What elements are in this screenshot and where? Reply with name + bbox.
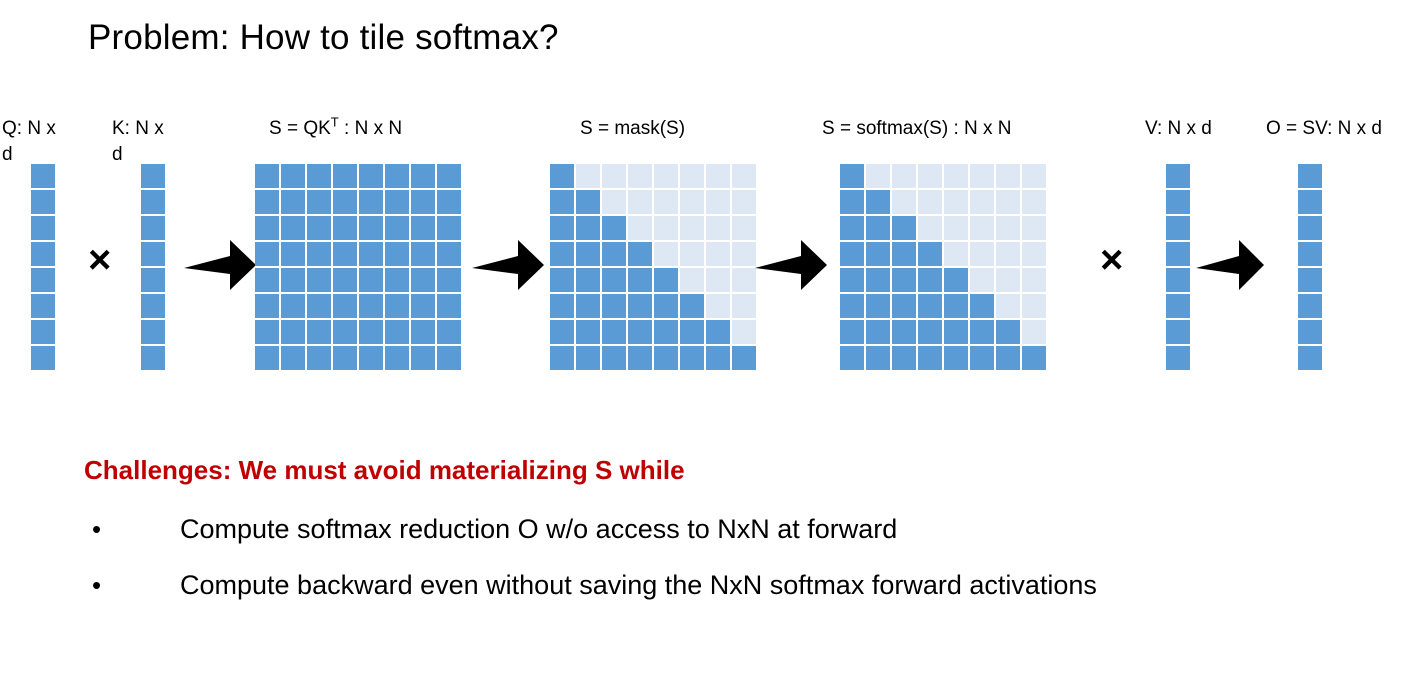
- stage-q-label: Q: N x: [2, 118, 56, 140]
- matrix-cell: [680, 242, 704, 266]
- stage-s-mask-label: S = mask(S): [580, 118, 685, 140]
- matrix-cell: [255, 242, 279, 266]
- matrix-cell: [437, 164, 461, 188]
- matrix-cell: [141, 164, 165, 188]
- matrix-cell: [1022, 346, 1046, 370]
- matrix-cell: [411, 294, 435, 318]
- matrix-cell: [411, 320, 435, 344]
- matrix-cell: [141, 190, 165, 214]
- matrix-cell: [411, 268, 435, 292]
- matrix-cell: [576, 294, 600, 318]
- matrix-cell: [732, 164, 756, 188]
- matrix-cell: [437, 346, 461, 370]
- matrix-cell: [680, 190, 704, 214]
- arrow-right-icon: [472, 236, 544, 299]
- matrix-cell: [628, 190, 652, 214]
- matrix-cell: [996, 242, 1020, 266]
- matrix-cell: [1298, 294, 1322, 318]
- matrix-cell: [944, 164, 968, 188]
- matrix-cell: [359, 294, 383, 318]
- matrix-cell: [996, 164, 1020, 188]
- matrix-cell: [1022, 242, 1046, 266]
- matrix-cell: [385, 164, 409, 188]
- list-item: • Compute softmax reduction O w/o access…: [84, 507, 1364, 551]
- matrix-cell: [840, 242, 864, 266]
- matrix-cell: [1298, 242, 1322, 266]
- matrix-cell: [576, 190, 600, 214]
- matrix-cell: [31, 320, 55, 344]
- matrix-cell: [437, 320, 461, 344]
- matrix-cell: [918, 346, 942, 370]
- matrix-s-mask: [550, 164, 756, 370]
- matrix-cell: [550, 216, 574, 240]
- matrix-cell: [602, 216, 626, 240]
- matrix-cell: [333, 268, 357, 292]
- matrix-cell: [970, 242, 994, 266]
- matrix-cell: [411, 164, 435, 188]
- matrix-cell: [437, 294, 461, 318]
- matrix-cell: [359, 216, 383, 240]
- matrix-cell: [385, 242, 409, 266]
- matrix-cell: [996, 346, 1020, 370]
- matrix-cell: [1298, 346, 1322, 370]
- matrix-cell: [31, 268, 55, 292]
- matrix-cell: [576, 320, 600, 344]
- matrix-cell: [706, 320, 730, 344]
- matrix-cell: [602, 320, 626, 344]
- matrix-cell: [680, 164, 704, 188]
- bullet-text: Compute backward even without saving the…: [180, 563, 1097, 607]
- matrix-cell: [359, 242, 383, 266]
- matrix-cell: [680, 346, 704, 370]
- stage-s-qkt-label: S = QKT : N x N: [269, 118, 402, 140]
- matrix-cell: [359, 268, 383, 292]
- matrix-cell: [333, 164, 357, 188]
- matrix-cell: [31, 190, 55, 214]
- matrix-cell: [602, 164, 626, 188]
- matrix-cell: [411, 216, 435, 240]
- matrix-cell: [892, 190, 916, 214]
- matrix-cell: [385, 190, 409, 214]
- matrix-cell: [307, 242, 331, 266]
- matrix-cell: [866, 216, 890, 240]
- matrix-cell: [628, 320, 652, 344]
- matrix-cell: [654, 294, 678, 318]
- matrix-cell: [732, 346, 756, 370]
- matrix-cell: [680, 294, 704, 318]
- matrix-cell: [255, 346, 279, 370]
- matrix-cell: [333, 216, 357, 240]
- matrix-cell: [944, 346, 968, 370]
- matrix-cell: [628, 164, 652, 188]
- matrix-cell: [732, 268, 756, 292]
- matrix-cell: [944, 242, 968, 266]
- matrix-cell: [1298, 268, 1322, 292]
- matrix-cell: [411, 242, 435, 266]
- matrix-cell: [1022, 190, 1046, 214]
- matrix-cell: [359, 164, 383, 188]
- matrix-cell: [1298, 190, 1322, 214]
- matrix-cell: [892, 268, 916, 292]
- matrix-cell: [550, 294, 574, 318]
- matrix-cell: [892, 164, 916, 188]
- matrix-cell: [840, 216, 864, 240]
- matrix-cell: [628, 268, 652, 292]
- matrix-cell: [1298, 164, 1322, 188]
- matrix-cell: [892, 320, 916, 344]
- bullet-dot-icon: •: [84, 563, 180, 607]
- matrix-cell: [706, 216, 730, 240]
- matrix-cell: [628, 294, 652, 318]
- matrix-cell: [141, 268, 165, 292]
- matrix-cell: [866, 294, 890, 318]
- matrix-cell: [281, 268, 305, 292]
- matrix-cell: [892, 216, 916, 240]
- matrix-cell: [550, 320, 574, 344]
- bullet-text: Compute softmax reduction O w/o access t…: [180, 507, 897, 551]
- matrix-cell: [333, 294, 357, 318]
- matrix-cell: [732, 294, 756, 318]
- matrix-cell: [918, 216, 942, 240]
- matrix-cell: [31, 216, 55, 240]
- matrix-cell: [996, 320, 1020, 344]
- matrix-cell: [602, 190, 626, 214]
- matrix-cell: [1166, 190, 1190, 214]
- matrix-cell: [550, 242, 574, 266]
- stage-s-qkt-label-main: S = QK: [269, 118, 331, 139]
- matrix-cell: [602, 346, 626, 370]
- matrix-cell: [281, 294, 305, 318]
- matrix-cell: [680, 268, 704, 292]
- matrix-cell: [944, 294, 968, 318]
- matrix-cell: [576, 268, 600, 292]
- stage-v-label: V: N x d: [1145, 118, 1212, 140]
- matrix-cell: [654, 216, 678, 240]
- matrix-cell: [307, 164, 331, 188]
- matrix-cell: [385, 268, 409, 292]
- matrix-cell: [141, 242, 165, 266]
- matrix-k: [141, 164, 165, 370]
- matrix-cell: [840, 294, 864, 318]
- matrix-cell: [840, 164, 864, 188]
- stage-k-label: K: N x: [112, 118, 164, 140]
- matrix-cell: [1298, 320, 1322, 344]
- matrix-cell: [706, 268, 730, 292]
- matrix-cell: [970, 294, 994, 318]
- matrix-cell: [970, 268, 994, 292]
- matrix-cell: [437, 190, 461, 214]
- matrix-cell: [732, 190, 756, 214]
- matrix-cell: [576, 242, 600, 266]
- matrix-cell: [1298, 216, 1322, 240]
- matrix-cell: [654, 320, 678, 344]
- matrix-cell: [970, 320, 994, 344]
- matrix-s-softmax: [840, 164, 1046, 370]
- matrix-v: [1166, 164, 1190, 370]
- matrix-cell: [970, 216, 994, 240]
- matrix-cell: [866, 346, 890, 370]
- stage-o-label: O = SV: N x d: [1266, 118, 1382, 140]
- matrix-cell: [550, 268, 574, 292]
- matrix-cell: [385, 346, 409, 370]
- matrix-cell: [628, 346, 652, 370]
- matrix-cell: [996, 190, 1020, 214]
- matrix-cell: [706, 242, 730, 266]
- stage-q-sublabel: d: [2, 144, 13, 166]
- matrix-cell: [918, 268, 942, 292]
- stage-s-qkt-label-suffix: : N x N: [339, 118, 402, 139]
- matrix-cell: [576, 216, 600, 240]
- matrix-cell: [1166, 346, 1190, 370]
- matrix-cell: [281, 242, 305, 266]
- matrix-cell: [31, 294, 55, 318]
- matrix-cell: [1022, 294, 1046, 318]
- attention-pipeline-diagram: Q: N x d × K: N x d: [0, 118, 1408, 388]
- stage-k-sublabel: d: [112, 144, 123, 166]
- transpose-superscript: T: [331, 115, 339, 130]
- matrix-cell: [866, 320, 890, 344]
- matrix-cell: [732, 242, 756, 266]
- matrix-cell: [602, 242, 626, 266]
- matrix-cell: [385, 216, 409, 240]
- matrix-cell: [550, 190, 574, 214]
- matrix-cell: [281, 164, 305, 188]
- matrix-cell: [141, 346, 165, 370]
- matrix-cell: [411, 190, 435, 214]
- matrix-cell: [1022, 216, 1046, 240]
- matrix-cell: [918, 242, 942, 266]
- matrix-cell: [866, 164, 890, 188]
- matrix-cell: [281, 320, 305, 344]
- matrix-cell: [307, 216, 331, 240]
- matrix-cell: [437, 268, 461, 292]
- matrix-cell: [141, 320, 165, 344]
- matrix-cell: [654, 268, 678, 292]
- matrix-cell: [281, 216, 305, 240]
- matrix-cell: [918, 190, 942, 214]
- matrix-cell: [628, 216, 652, 240]
- matrix-cell: [680, 216, 704, 240]
- matrix-cell: [1166, 164, 1190, 188]
- matrix-cell: [918, 164, 942, 188]
- matrix-cell: [654, 164, 678, 188]
- matrix-cell: [255, 216, 279, 240]
- matrix-cell: [31, 164, 55, 188]
- matrix-cell: [141, 294, 165, 318]
- bullet-dot-icon: •: [84, 507, 180, 551]
- matrix-cell: [307, 190, 331, 214]
- list-item: • Compute backward even without saving t…: [84, 563, 1364, 607]
- matrix-cell: [918, 294, 942, 318]
- matrix-cell: [654, 346, 678, 370]
- matrix-cell: [1166, 216, 1190, 240]
- matrix-cell: [866, 242, 890, 266]
- matrix-cell: [576, 164, 600, 188]
- matrix-cell: [680, 320, 704, 344]
- matrix-cell: [1166, 294, 1190, 318]
- matrix-cell: [996, 268, 1020, 292]
- matrix-cell: [944, 268, 968, 292]
- matrix-cell: [706, 294, 730, 318]
- matrix-cell: [307, 320, 331, 344]
- matrix-cell: [255, 164, 279, 188]
- matrix-cell: [550, 346, 574, 370]
- matrix-cell: [602, 268, 626, 292]
- matrix-cell: [654, 242, 678, 266]
- matrix-cell: [255, 190, 279, 214]
- matrix-cell: [437, 216, 461, 240]
- arrow-right-icon: [1196, 236, 1264, 299]
- matrix-cell: [255, 294, 279, 318]
- arrow-right-icon: [184, 236, 256, 299]
- matrix-cell: [840, 268, 864, 292]
- matrix-cell: [706, 190, 730, 214]
- matrix-cell: [385, 320, 409, 344]
- matrix-cell: [892, 346, 916, 370]
- matrix-cell: [732, 216, 756, 240]
- matrix-cell: [411, 346, 435, 370]
- matrix-cell: [31, 242, 55, 266]
- matrix-cell: [359, 320, 383, 344]
- matrix-cell: [333, 190, 357, 214]
- matrix-cell: [970, 346, 994, 370]
- matrix-cell: [628, 242, 652, 266]
- multiply-icon: ×: [1100, 240, 1123, 280]
- matrix-cell: [706, 164, 730, 188]
- matrix-cell: [654, 190, 678, 214]
- matrix-cell: [866, 268, 890, 292]
- matrix-cell: [31, 346, 55, 370]
- matrix-cell: [918, 320, 942, 344]
- matrix-cell: [1022, 320, 1046, 344]
- matrix-cell: [1022, 268, 1046, 292]
- matrix-cell: [732, 320, 756, 344]
- matrix-q: [31, 164, 55, 370]
- matrix-cell: [141, 216, 165, 240]
- matrix-cell: [1166, 242, 1190, 266]
- matrix-cell: [576, 346, 600, 370]
- matrix-cell: [996, 294, 1020, 318]
- matrix-cell: [892, 294, 916, 318]
- matrix-cell: [333, 346, 357, 370]
- matrix-cell: [255, 320, 279, 344]
- page-title: Problem: How to tile softmax?: [88, 18, 559, 58]
- matrix-cell: [333, 320, 357, 344]
- matrix-cell: [866, 190, 890, 214]
- matrix-s-qkt: [255, 164, 461, 370]
- matrix-cell: [307, 294, 331, 318]
- matrix-cell: [1166, 268, 1190, 292]
- matrix-cell: [996, 216, 1020, 240]
- matrix-cell: [359, 190, 383, 214]
- matrix-cell: [281, 190, 305, 214]
- matrix-cell: [892, 242, 916, 266]
- matrix-cell: [706, 346, 730, 370]
- matrix-cell: [840, 320, 864, 344]
- matrix-cell: [307, 268, 331, 292]
- matrix-cell: [255, 268, 279, 292]
- matrix-cell: [550, 164, 574, 188]
- matrix-cell: [281, 346, 305, 370]
- matrix-cell: [307, 346, 331, 370]
- matrix-cell: [359, 346, 383, 370]
- matrix-cell: [1022, 164, 1046, 188]
- matrix-cell: [944, 190, 968, 214]
- stage-s-softmax-label: S = softmax(S) : N x N: [822, 118, 1012, 140]
- matrix-cell: [944, 320, 968, 344]
- multiply-icon: ×: [88, 240, 111, 280]
- matrix-cell: [970, 164, 994, 188]
- matrix-cell: [1166, 320, 1190, 344]
- matrix-cell: [840, 346, 864, 370]
- matrix-cell: [333, 242, 357, 266]
- matrix-cell: [840, 190, 864, 214]
- matrix-o: [1298, 164, 1322, 370]
- matrix-cell: [944, 216, 968, 240]
- matrix-cell: [970, 190, 994, 214]
- arrow-right-icon: [755, 236, 827, 299]
- matrix-cell: [437, 242, 461, 266]
- matrix-cell: [385, 294, 409, 318]
- challenges-heading: Challenges: We must avoid materializing …: [84, 455, 685, 486]
- matrix-cell: [602, 294, 626, 318]
